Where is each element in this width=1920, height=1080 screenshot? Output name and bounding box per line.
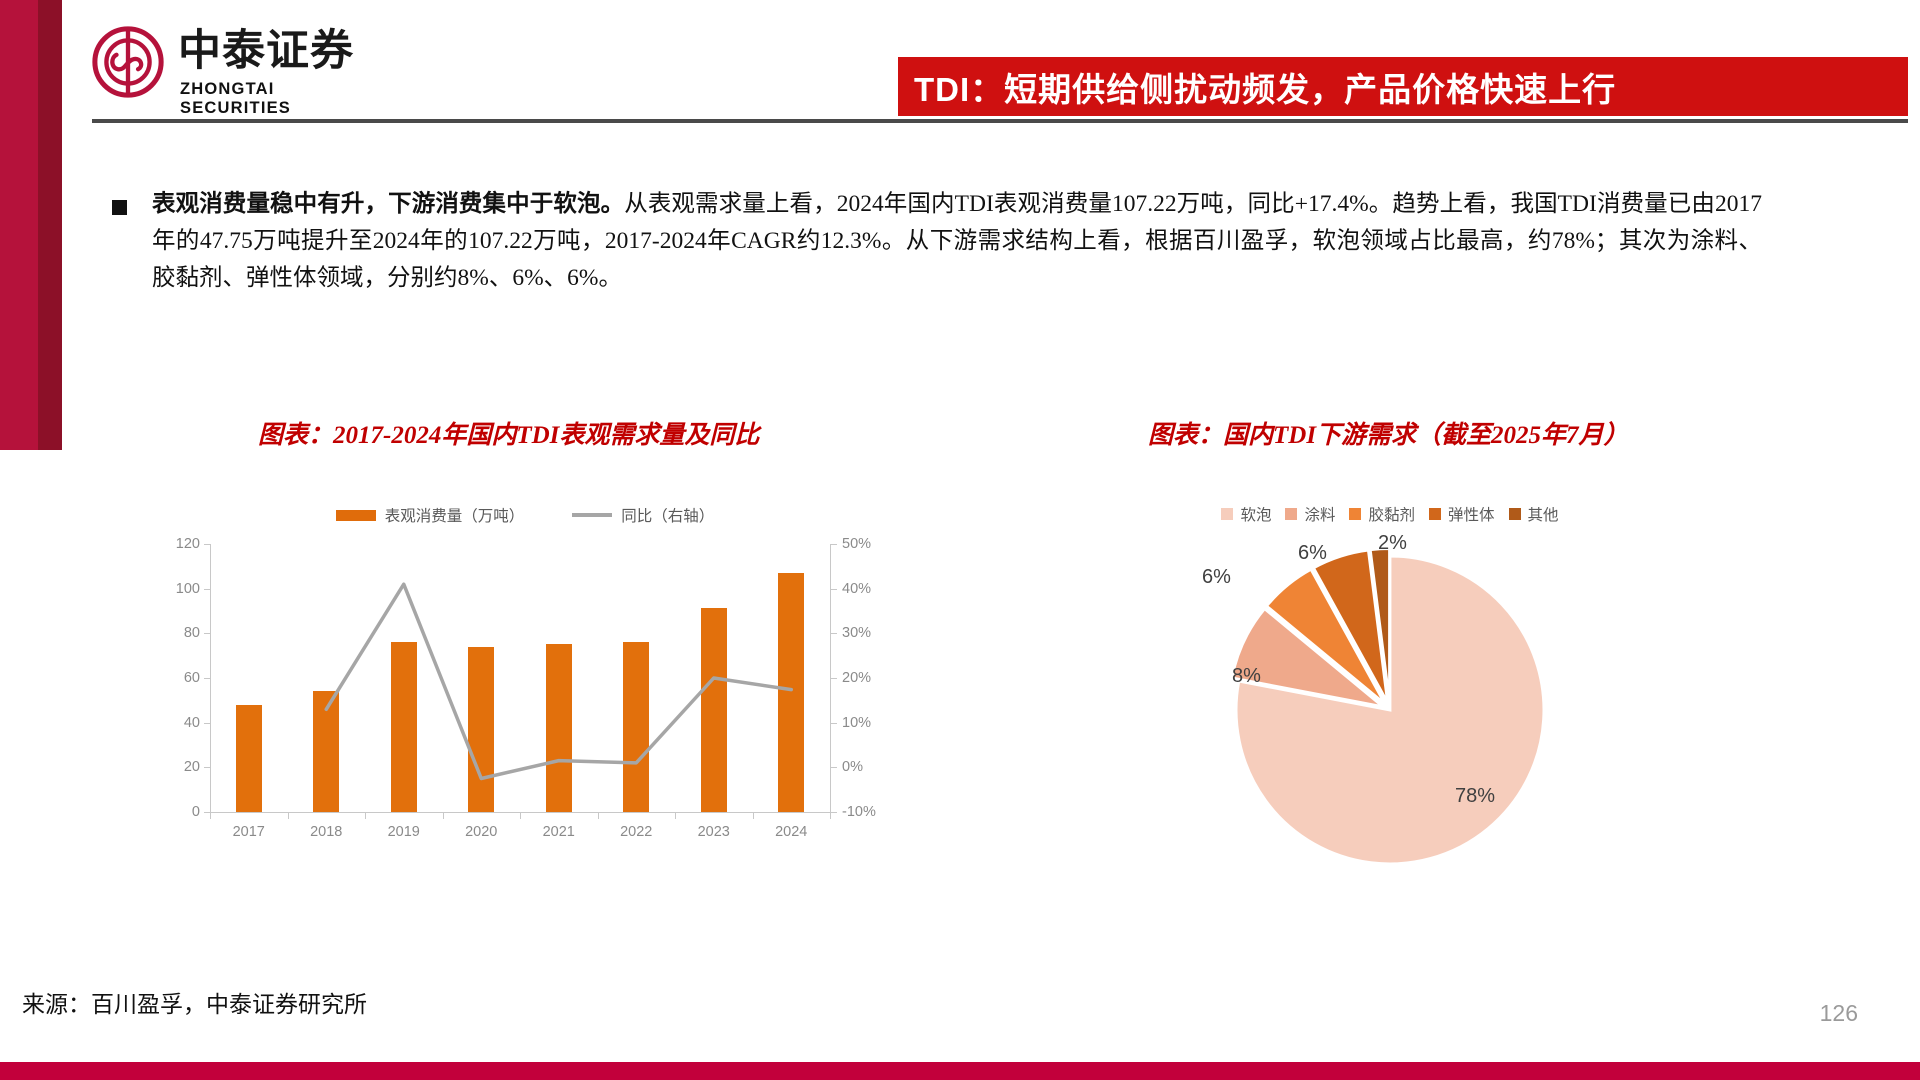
legend-label-consumption: 表观消费量（万吨） bbox=[385, 504, 525, 526]
bar-chart-y-tick-left: 80 bbox=[184, 625, 200, 641]
bar-chart-x-tick: 2022 bbox=[620, 824, 652, 840]
pie-slice-value-label: 2% bbox=[1378, 532, 1407, 555]
page-number: 126 bbox=[1820, 1000, 1858, 1027]
bar-chart: 表观消费量（万吨） 同比（右轴） 020406080100120-10%0%10… bbox=[130, 500, 920, 910]
bar-chart-y-tick-right: 10% bbox=[842, 715, 871, 731]
bar-chart-x-tick: 2023 bbox=[698, 824, 730, 840]
page-title: TDI：短期供给侧扰动频发，产品价格快速上行 bbox=[914, 63, 1616, 111]
pie-chart-plot-area: 78%8%6%6%2% bbox=[1180, 520, 1600, 900]
bar-chart-x-tick: 2017 bbox=[233, 824, 265, 840]
bar-chart-x-tick: 2020 bbox=[465, 824, 497, 840]
bar-chart-y-tick-right: 40% bbox=[842, 581, 871, 597]
bar-chart-y-tick-right: -10% bbox=[842, 804, 876, 820]
pie-slice-value-label: 8% bbox=[1232, 665, 1261, 688]
body-paragraph: 表观消费量稳中有升，下游消费集中于软泡。从表观需求量上看，2024年国内TDI表… bbox=[152, 186, 1762, 297]
bar-chart-x-tick: 2024 bbox=[775, 824, 807, 840]
bar-chart-y-tick-right: 0% bbox=[842, 759, 863, 775]
brand-logo: 中泰证券 ZHONGTAI SECURITIES bbox=[92, 20, 372, 110]
bar-chart-y-tick-left: 100 bbox=[176, 581, 200, 597]
bar-chart-y-tick-left: 120 bbox=[176, 536, 200, 552]
pie-slice-value-label: 6% bbox=[1298, 542, 1327, 565]
left-accent-bar-outer bbox=[0, 0, 38, 450]
pie-slice-value-label: 6% bbox=[1202, 566, 1231, 589]
bullet-marker bbox=[112, 200, 127, 215]
left-accent-bar-inner bbox=[38, 0, 62, 450]
bar-chart-yoy-line bbox=[210, 544, 832, 814]
bar-chart-plot-area: 020406080100120-10%0%10%20%30%40%50%2017… bbox=[210, 544, 830, 812]
pie-legend-swatch-icon bbox=[1221, 508, 1233, 520]
bottom-accent-bar bbox=[0, 1062, 1920, 1080]
bar-chart-legend: 表观消费量（万吨） 同比（右轴） bbox=[130, 500, 920, 530]
logo-text-cn: 中泰证券 bbox=[178, 28, 354, 74]
pie-legend-swatch-icon bbox=[1509, 508, 1521, 520]
legend-swatch-line-icon bbox=[572, 513, 612, 517]
header-divider bbox=[92, 119, 1908, 123]
bar-chart-y-tick-right: 20% bbox=[842, 670, 871, 686]
bar-chart-x-tick: 2019 bbox=[388, 824, 420, 840]
legend-swatch-bar-icon bbox=[336, 510, 376, 521]
bar-chart-x-tick: 2021 bbox=[543, 824, 575, 840]
bar-chart-y-tick-left: 40 bbox=[184, 715, 200, 731]
legend-item-yoy: 同比（右轴） bbox=[572, 504, 714, 526]
pie-chart: 软泡涂料胶黏剂弹性体其他 78%8%6%6%2% bbox=[1080, 500, 1700, 910]
pie-chart-title: 图表：国内TDI下游需求（截至2025年7月） bbox=[1148, 415, 1629, 451]
legend-label-yoy: 同比（右轴） bbox=[621, 504, 714, 526]
page-title-banner: TDI：短期供给侧扰动频发，产品价格快速上行 bbox=[898, 57, 1908, 116]
pie-legend-swatch-icon bbox=[1349, 508, 1361, 520]
bar-chart-title: 图表：2017-2024年国内TDI表观需求量及同比 bbox=[258, 415, 759, 451]
logo-text-en: ZHONGTAI SECURITIES bbox=[180, 80, 372, 118]
bar-chart-x-tick: 2018 bbox=[310, 824, 342, 840]
bar-chart-y-tick-left: 20 bbox=[184, 759, 200, 775]
legend-item-consumption: 表观消费量（万吨） bbox=[336, 504, 525, 526]
bar-chart-y-tick-right: 50% bbox=[842, 536, 871, 552]
zhongtai-logo-icon bbox=[92, 26, 164, 98]
bar-chart-y-tick-left: 0 bbox=[192, 804, 200, 820]
bar-chart-y-tick-right: 30% bbox=[842, 625, 871, 641]
pie-slice-value-label: 78% bbox=[1455, 785, 1495, 808]
bar-chart-y-tick-left: 60 bbox=[184, 670, 200, 686]
body-paragraph-lead: 表观消费量稳中有升，下游消费集中于软泡。 bbox=[152, 191, 624, 217]
source-note: 来源：百川盈孚，中泰证券研究所 bbox=[22, 985, 367, 1019]
pie-legend-swatch-icon bbox=[1429, 508, 1441, 520]
pie-chart-svg bbox=[1180, 520, 1600, 900]
pie-legend-swatch-icon bbox=[1285, 508, 1297, 520]
